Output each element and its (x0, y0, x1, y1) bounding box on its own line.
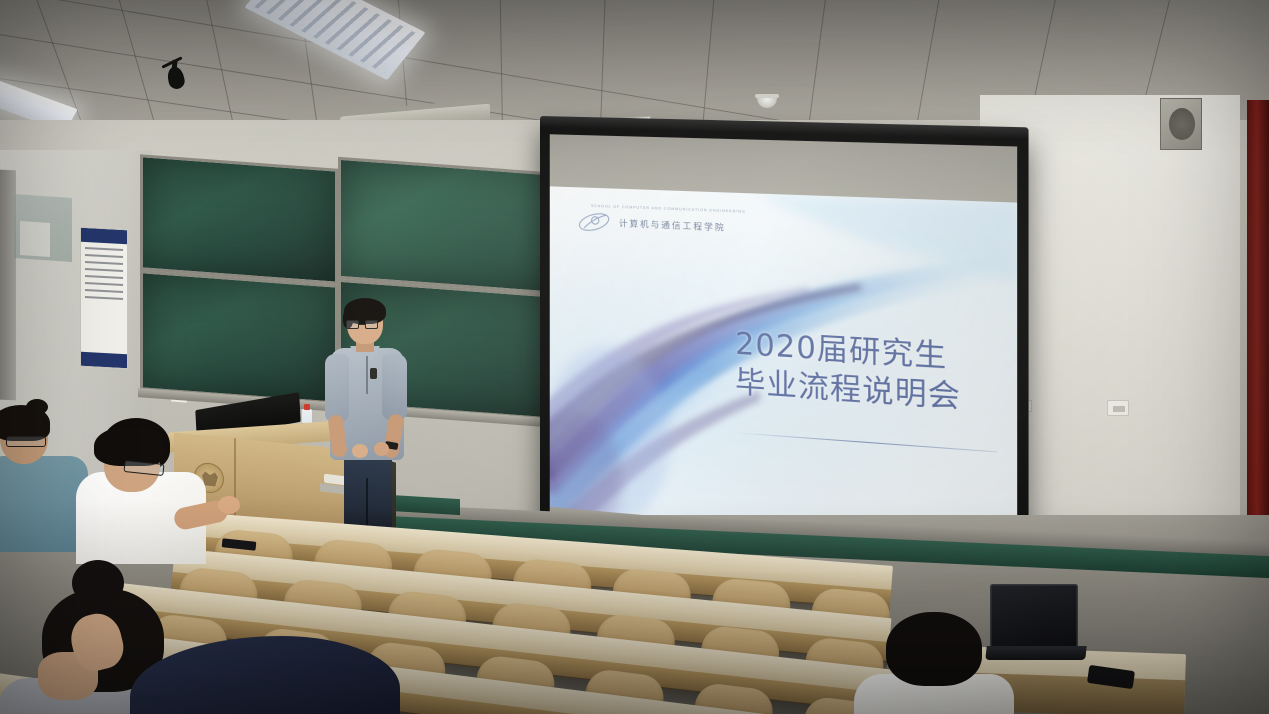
chalkboard-panel[interactable] (140, 270, 338, 405)
presenter-hand-right (374, 442, 389, 456)
presenter-sleeve-right (382, 354, 407, 420)
power-outlet-icon[interactable] (1107, 400, 1129, 416)
student-hand (218, 496, 240, 514)
student-hair-bun (72, 560, 124, 606)
student-hair (886, 612, 982, 686)
wall-speaker-icon (1160, 98, 1202, 150)
poster-header (81, 228, 127, 244)
classroom-rules-poster (80, 227, 128, 370)
presenter (326, 302, 410, 542)
presenter-hand-left (352, 444, 368, 458)
eyeglasses-icon (6, 436, 46, 447)
poster-footer (81, 352, 127, 368)
clip-microphone-icon (370, 368, 377, 379)
eyeglasses-icon (346, 320, 381, 329)
student-right-white (858, 612, 1008, 714)
logo-swoosh-icon (577, 209, 611, 235)
student-torso (130, 636, 400, 714)
student-white-shirt (56, 420, 206, 560)
projected-slide: 计算机与通信工程学院 SCHOOL OF COMPUTER AND COMMUN… (550, 186, 1017, 547)
slide-logo-text: 计算机与通信工程学院 (619, 217, 726, 234)
student-navy (130, 636, 400, 714)
small-wall-notice (20, 221, 50, 257)
ceiling-camera-icon (163, 58, 185, 88)
presenter-placket (366, 356, 368, 394)
presenter-sleeve-left (325, 354, 349, 422)
screen-surface: 计算机与通信工程学院 SCHOOL OF COMPUTER AND COMMUN… (550, 134, 1017, 574)
chalkboard-panel[interactable] (140, 154, 338, 285)
chalkboard-panel[interactable] (338, 157, 573, 296)
lecture-hall-photograph: 计算机与通信工程学院 SCHOOL OF COMPUTER AND COMMUN… (0, 0, 1269, 714)
poster-rule-lines (85, 247, 123, 300)
